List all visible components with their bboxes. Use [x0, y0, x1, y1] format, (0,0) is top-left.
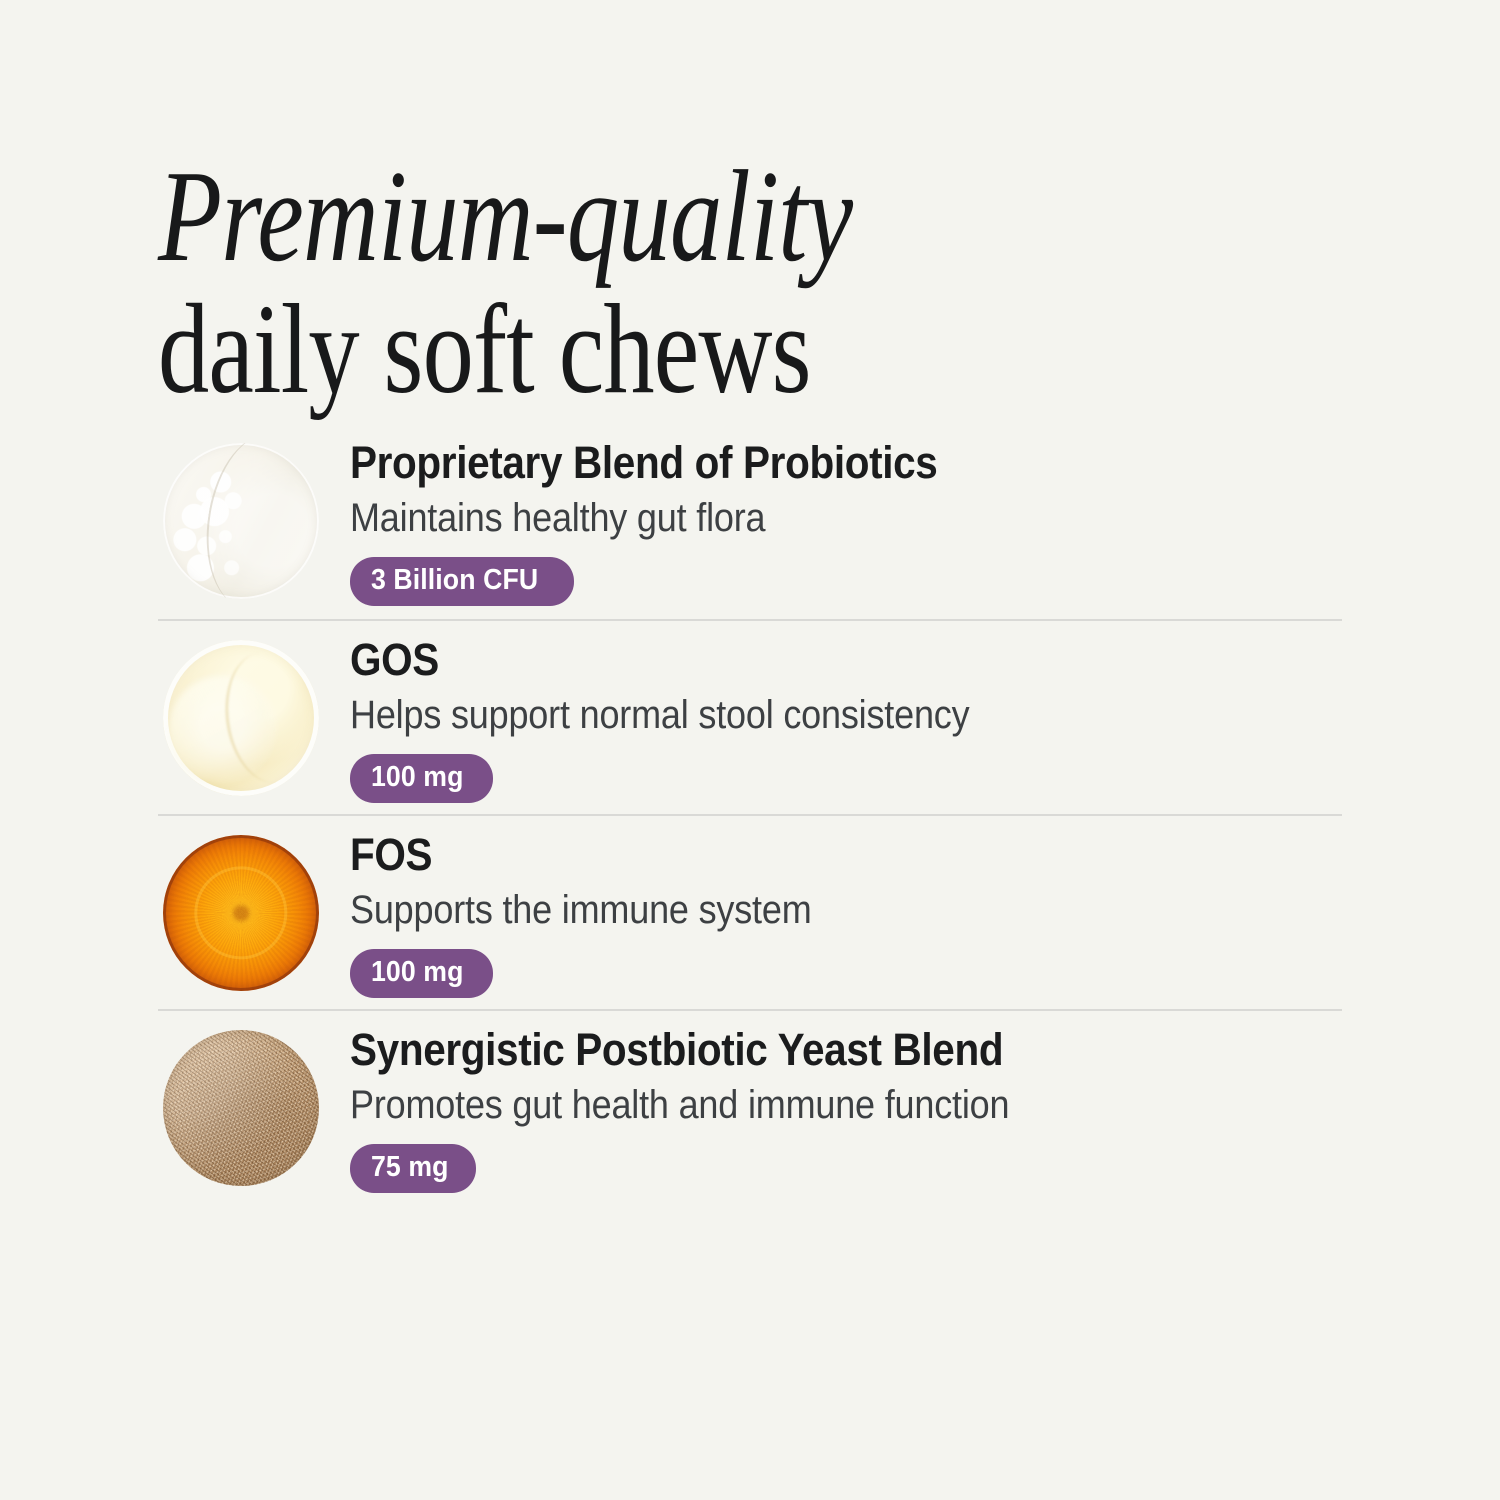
list-item: FOS Supports the immune system 100 mg	[158, 814, 1342, 1009]
page-title: Premium-quality daily soft chews	[158, 158, 1338, 408]
list-item: Synergistic Postbiotic Yeast Blend Promo…	[158, 1009, 1342, 1204]
ingredient-list: Proprietary Blend of Probiotics Maintain…	[158, 424, 1342, 1204]
status-badge: 75 mg	[350, 1144, 476, 1193]
status-badge-label: 75 mg	[371, 1150, 449, 1184]
fos-root-slice-icon	[163, 835, 319, 991]
ingredient-text-block: Proprietary Blend of Probiotics Maintain…	[324, 424, 1342, 606]
page-title-line-1: Premium-quality	[158, 158, 1102, 276]
status-badge-label: 100 mg	[371, 760, 464, 794]
postbiotic-yeast-granules-icon	[163, 1030, 319, 1186]
status-badge: 100 mg	[350, 754, 493, 803]
list-item: GOS Helps support normal stool consisten…	[158, 619, 1342, 814]
gos-cream-swatch-icon	[163, 640, 319, 796]
probiotic-cream-swatch-icon	[163, 443, 319, 599]
product-benefits-infographic: Premium-quality daily soft chews Proprie…	[0, 0, 1500, 1500]
ingredient-title: GOS	[350, 635, 1243, 685]
ingredient-title: Proprietary Blend of Probiotics	[350, 438, 1243, 488]
ingredient-subtitle: Promotes gut health and immune function	[350, 1082, 1243, 1128]
ingredient-thumbnail-wrap	[158, 424, 324, 599]
status-badge-label: 100 mg	[371, 955, 464, 989]
ingredient-subtitle: Maintains healthy gut flora	[350, 495, 1243, 541]
status-badge-label: 3 Billion CFU	[371, 563, 538, 597]
status-badge: 3 Billion CFU	[350, 557, 574, 606]
ingredient-title: FOS	[350, 830, 1243, 880]
ingredient-subtitle: Supports the immune system	[350, 887, 1243, 933]
status-badge: 100 mg	[350, 949, 493, 998]
ingredient-text-block: FOS Supports the immune system 100 mg	[324, 816, 1342, 998]
ingredient-subtitle: Helps support normal stool consistency	[350, 692, 1243, 738]
list-item: Proprietary Blend of Probiotics Maintain…	[158, 424, 1342, 619]
ingredient-title: Synergistic Postbiotic Yeast Blend	[350, 1025, 1243, 1075]
ingredient-text-block: Synergistic Postbiotic Yeast Blend Promo…	[324, 1011, 1342, 1193]
page-title-line-2: daily soft chews	[158, 290, 1102, 408]
ingredient-text-block: GOS Helps support normal stool consisten…	[324, 621, 1342, 803]
ingredient-thumbnail-wrap	[158, 1011, 324, 1186]
ingredient-thumbnail-wrap	[158, 816, 324, 991]
ingredient-thumbnail-wrap	[158, 621, 324, 796]
